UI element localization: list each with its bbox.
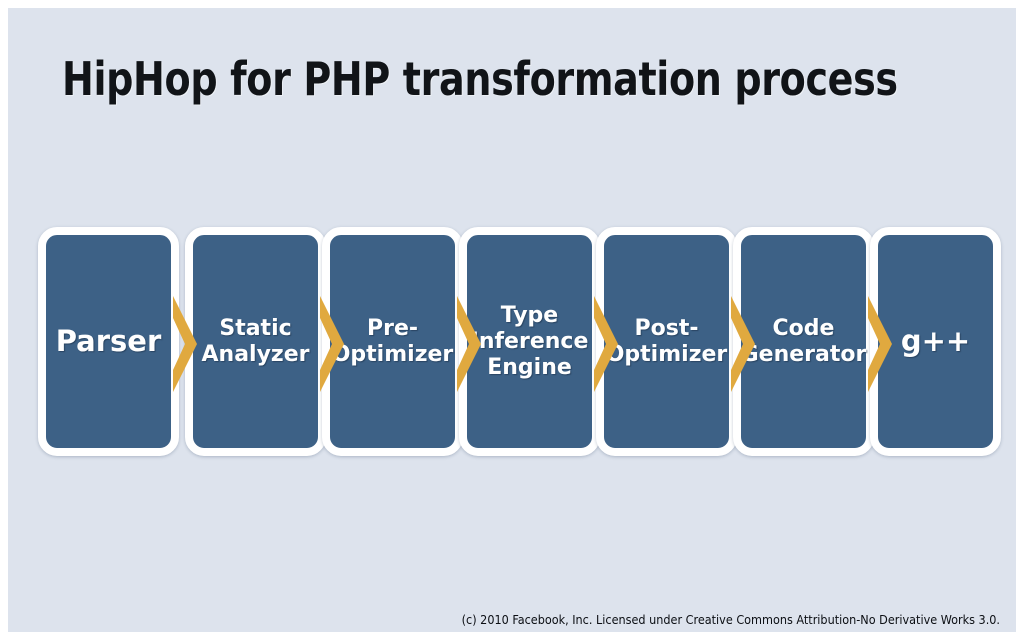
pipeline-stage-parser[interactable]: Parser [38, 227, 179, 456]
slide-canvas: HipHop for PHP transformation process Pa… [8, 8, 1016, 632]
chevron-right-icon [318, 296, 346, 392]
stage-box: Parser [38, 227, 179, 456]
pipeline-stage-static-analyzer[interactable]: Static Analyzer [185, 227, 326, 456]
stage-box: Static Analyzer [185, 227, 326, 456]
stage-label: Post- Optimizer [602, 316, 732, 368]
chevron-right-icon [592, 296, 620, 392]
stage-label: Static Analyzer [198, 316, 314, 368]
pipeline-diagram: Parser Static Analyzer Pre- Optimizer [38, 227, 1001, 456]
chevron-right-icon [455, 296, 483, 392]
stage-label: Pre- Optimizer [328, 316, 458, 368]
page-title: HipHop for PHP transformation process [62, 52, 890, 106]
copyright-footer: (c) 2010 Facebook, Inc. Licensed under C… [8, 612, 1016, 628]
stage-label: Parser [52, 325, 166, 358]
stage-label: Type Inference Engine [467, 303, 593, 381]
chevron-right-icon [171, 296, 199, 392]
chevron-right-icon [729, 296, 757, 392]
stage-label: g++ [897, 325, 974, 358]
chevron-right-icon [866, 296, 894, 392]
